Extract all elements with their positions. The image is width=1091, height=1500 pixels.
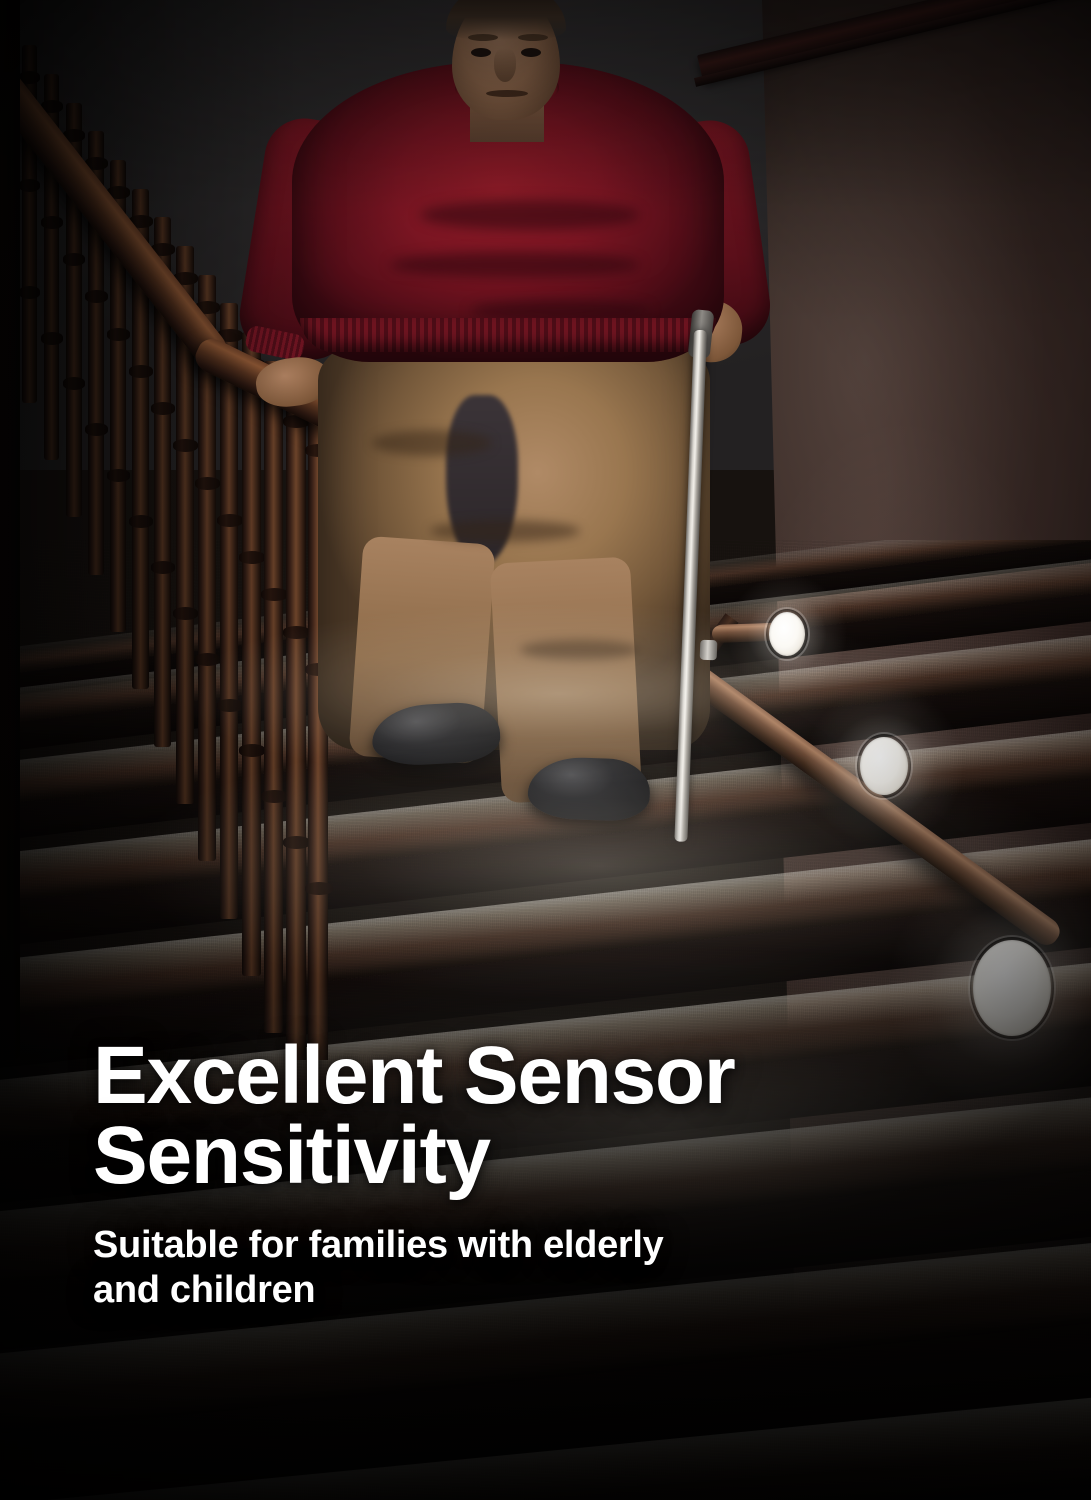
trouser-fold-c — [520, 640, 640, 660]
baluster-turning — [305, 882, 333, 895]
elderly-man-figure — [0, 0, 1091, 880]
page-subtitle: Suitable for families with elderly and c… — [93, 1223, 993, 1313]
marketing-copy-block: Excellent Sensor Sensitivity Suitable fo… — [93, 1036, 993, 1312]
trouser-fold-a — [372, 430, 492, 456]
mouth — [486, 90, 528, 97]
headline-line-2: Sensitivity — [93, 1116, 993, 1196]
right-eyebrow — [518, 34, 548, 41]
nose — [494, 48, 516, 82]
product-lifestyle-scene: Excellent Sensor Sensitivity Suitable fo… — [0, 0, 1091, 1500]
trouser-fold-b — [430, 520, 580, 542]
right-shoe — [527, 756, 651, 822]
right-eye — [521, 48, 541, 57]
sweater-hem-ribbing — [300, 318, 716, 352]
puck-light-bottom — [973, 940, 1051, 1036]
hair — [446, 0, 566, 40]
sweater-fold-b — [390, 252, 640, 278]
subhead-line-1: Suitable for families with elderly — [93, 1224, 664, 1266]
subhead-line-2: and children — [93, 1268, 993, 1313]
cane-adjustment-joint — [700, 640, 718, 661]
left-eye — [471, 48, 491, 57]
page-title: Excellent Sensor Sensitivity — [93, 1036, 993, 1197]
sweater-fold-a — [420, 200, 640, 230]
left-eyebrow — [468, 34, 498, 41]
headline-line-1: Excellent Sensor — [93, 1030, 735, 1121]
